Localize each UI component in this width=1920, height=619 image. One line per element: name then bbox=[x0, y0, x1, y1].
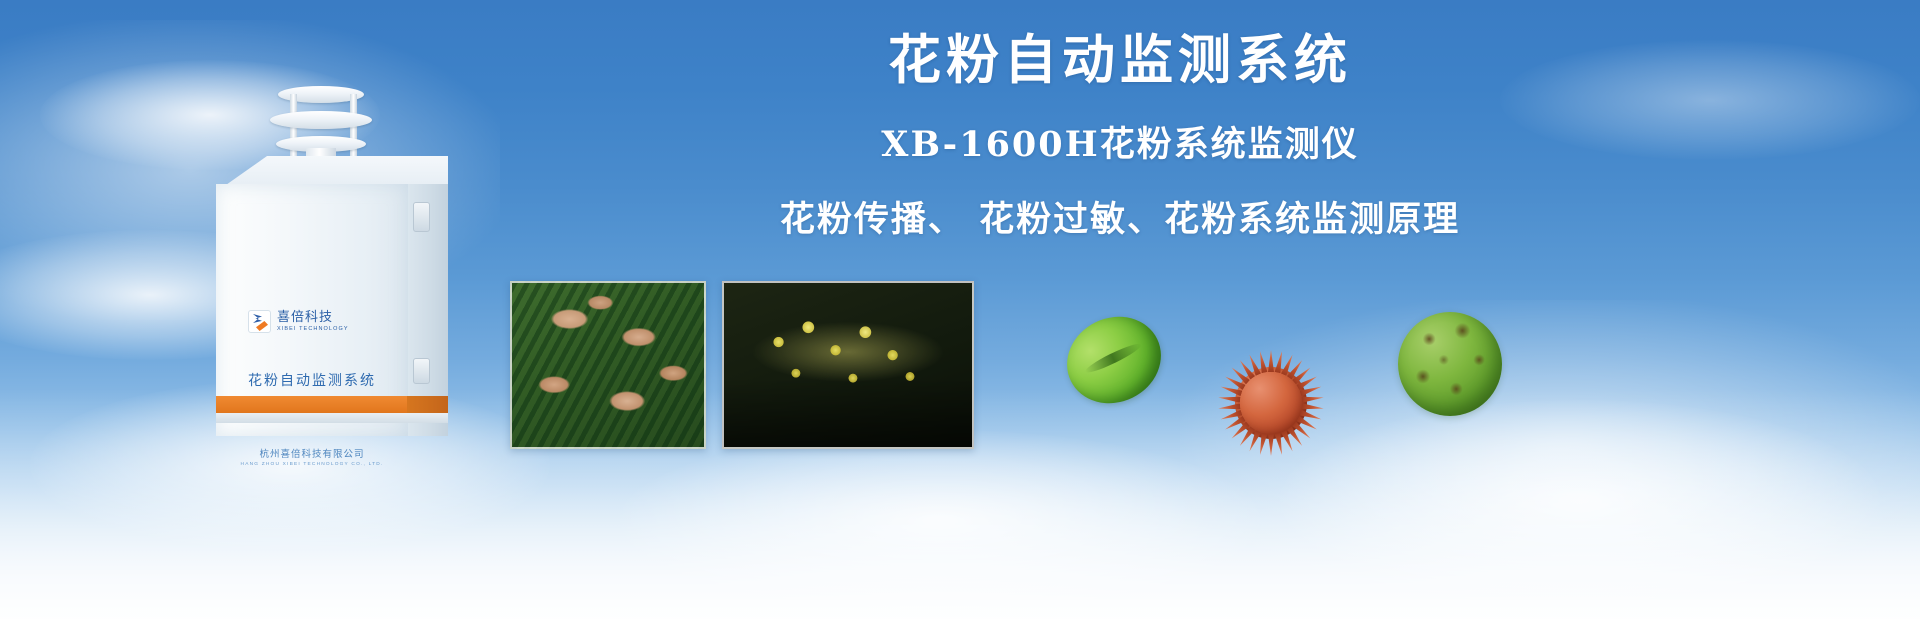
headline-block: 花粉自动监测系统 XB-1600H花粉系统监测仪 花粉传播、 花粉过敏、花粉系统… bbox=[530, 28, 1710, 242]
photo-catkin-flower-pollen bbox=[722, 281, 974, 449]
device-product-name: 花粉自动监测系统 bbox=[216, 370, 408, 390]
mottled-green-pollen-grain-icon bbox=[1398, 312, 1502, 416]
pollen-monitor-device: 喜倍科技 XIBEI TECHNOLOGY 花粉自动监测系统 XB-1600H … bbox=[210, 78, 470, 428]
subtitle-topics: 花粉传播、 花粉过敏、花粉系统监测原理 bbox=[530, 191, 1710, 242]
cabinet-handle-bottom bbox=[413, 358, 430, 384]
smooth-green-pollen-grain-icon bbox=[1052, 301, 1175, 419]
page-title: 花粉自动监测系统 bbox=[530, 28, 1710, 94]
brand-logo: 喜倍科技 XIBEI TECHNOLOGY bbox=[248, 310, 349, 333]
brand-name-cn: 喜倍科技 bbox=[277, 311, 349, 324]
cloud-right bbox=[1280, 400, 1880, 600]
cabinet-orange-base bbox=[216, 396, 408, 413]
cabinet-orange-base-side bbox=[407, 396, 448, 413]
brand-name-en: XIBEI TECHNOLOGY bbox=[277, 327, 349, 333]
xibei-logo-icon bbox=[248, 310, 271, 333]
spiky-red-pollen-grain-icon bbox=[1218, 350, 1324, 456]
cabinet-foot bbox=[216, 413, 448, 423]
cabinet-handle-top bbox=[413, 202, 430, 232]
inlet-disc-middle bbox=[270, 111, 372, 129]
subtitle-model: XB-1600H花粉系统监测仪 bbox=[530, 116, 1710, 167]
device-company-cn: 杭州喜倍科技有限公司 bbox=[216, 446, 408, 460]
photo-cypress-pollen-cones bbox=[510, 281, 706, 449]
pollen-spike bbox=[1268, 350, 1274, 372]
cloud-center bbox=[620, 430, 1260, 610]
device-company-en: HANG ZHOU XIBEI TECHNOLOGY CO., LTD. bbox=[216, 462, 408, 467]
pollen-monitoring-banner: 花粉自动监测系统 XB-1600H花粉系统监测仪 花粉传播、 花粉过敏、花粉系统… bbox=[0, 0, 1920, 619]
pollen-spike bbox=[1268, 434, 1274, 456]
brand-logo-text: 喜倍科技 XIBEI TECHNOLOGY bbox=[277, 311, 349, 333]
